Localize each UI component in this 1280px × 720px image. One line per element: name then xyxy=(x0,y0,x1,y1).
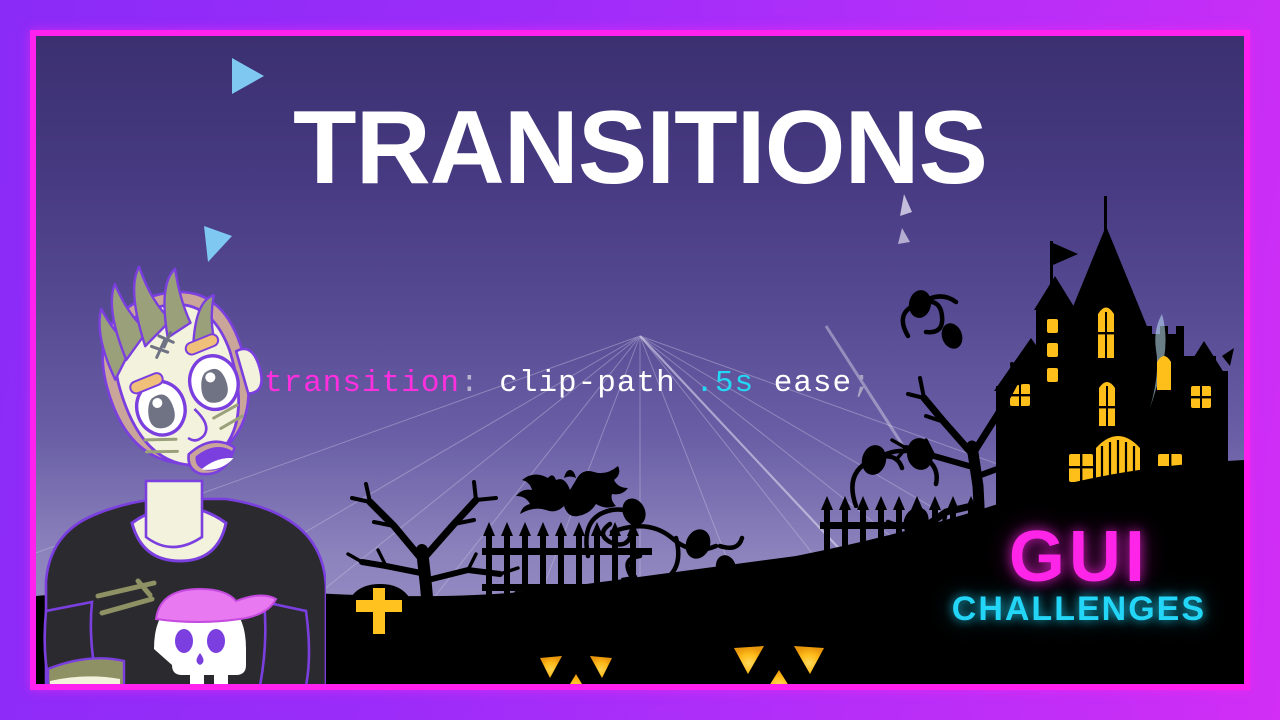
thumbnail-stage: TRANSITIONS transition: clip-path .5s ea… xyxy=(0,0,1280,720)
jack-o-lantern-right xyxy=(684,596,874,684)
code-value: clip-path xyxy=(499,366,675,401)
code-duration: .5s xyxy=(695,366,754,401)
avatar-head xyxy=(78,251,284,495)
brand-gui: GUI xyxy=(952,524,1206,590)
magenta-frame-border: TRANSITIONS transition: clip-path .5s ea… xyxy=(30,30,1250,690)
code-easing: ease xyxy=(774,366,852,401)
code-snippet: transition: clip-path .5s ease; xyxy=(264,366,872,401)
code-semicolon: ; xyxy=(852,366,872,401)
jack-o-lantern-left xyxy=(496,612,656,684)
code-colon: : xyxy=(460,366,480,401)
halloween-scene: TRANSITIONS transition: clip-path .5s ea… xyxy=(36,36,1244,684)
brand-challenges: CHALLENGES xyxy=(952,592,1206,626)
zombie-host-avatar xyxy=(36,251,326,684)
page-title: TRANSITIONS xyxy=(36,96,1244,200)
gui-challenges-logo: GUI CHALLENGES xyxy=(952,524,1206,626)
